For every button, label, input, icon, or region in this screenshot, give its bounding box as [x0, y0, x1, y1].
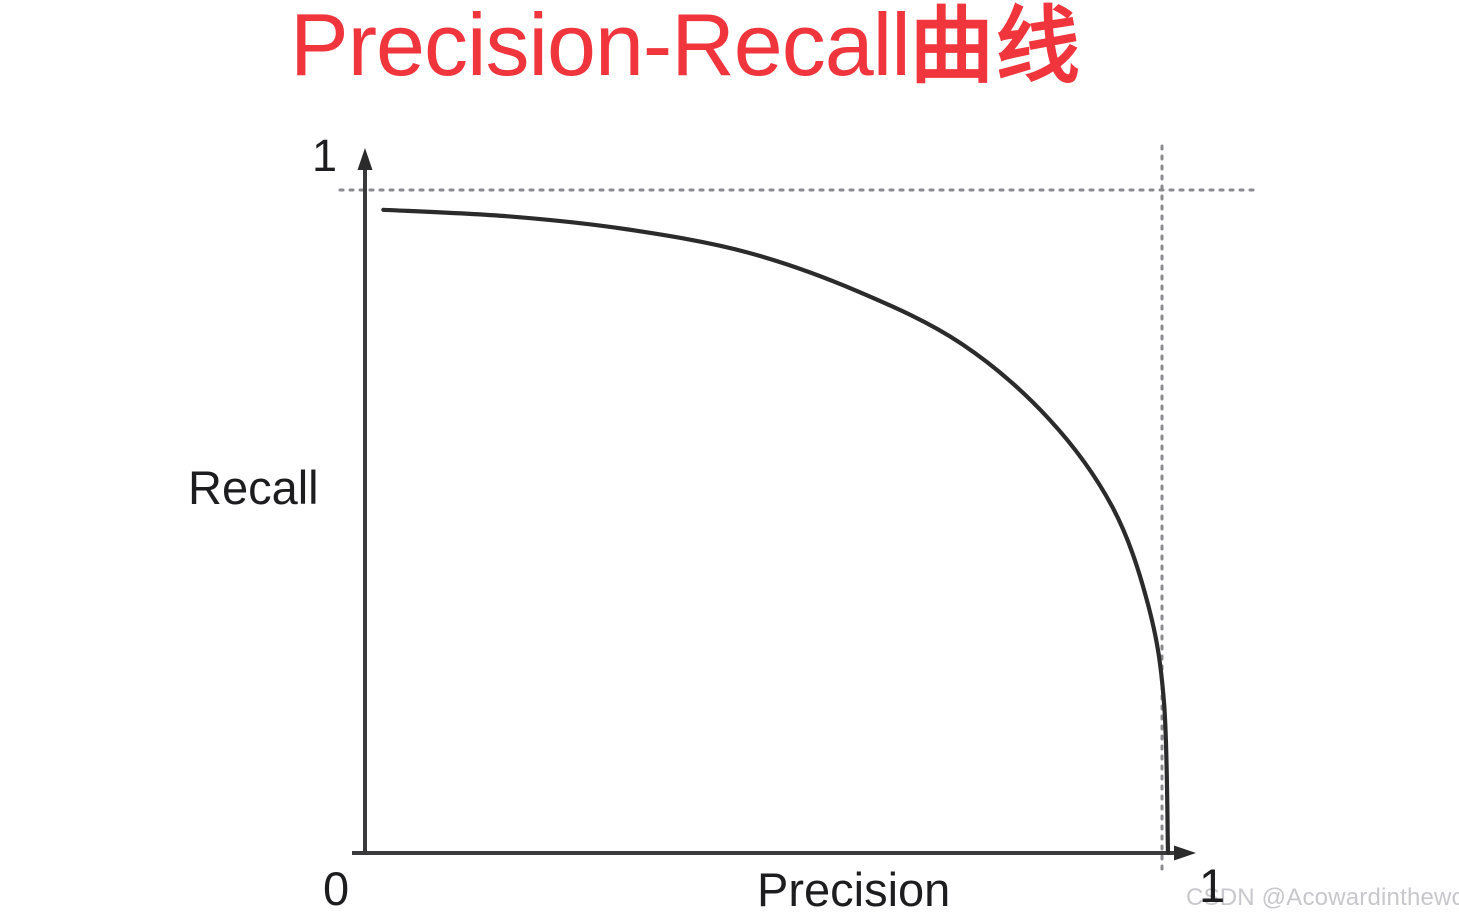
y-axis-arrowhead [358, 148, 373, 170]
precision-recall-figure: Precision-Recall曲线 Recall Precision 1 0 … [0, 0, 1459, 918]
precision-recall-curve [383, 210, 1168, 853]
x-axis-tick-max: 1 [1199, 858, 1225, 913]
y-axis-label: Recall [188, 460, 319, 515]
x-axis-arrowhead [1174, 846, 1196, 861]
y-axis-tick-max: 1 [312, 130, 337, 182]
x-axis-label: Precision [757, 862, 950, 917]
x-axis-tick-min: 0 [323, 861, 349, 916]
csdn-watermark: CSDN @Acowardintheworld [1186, 884, 1459, 912]
plot-canvas [0, 0, 1459, 918]
